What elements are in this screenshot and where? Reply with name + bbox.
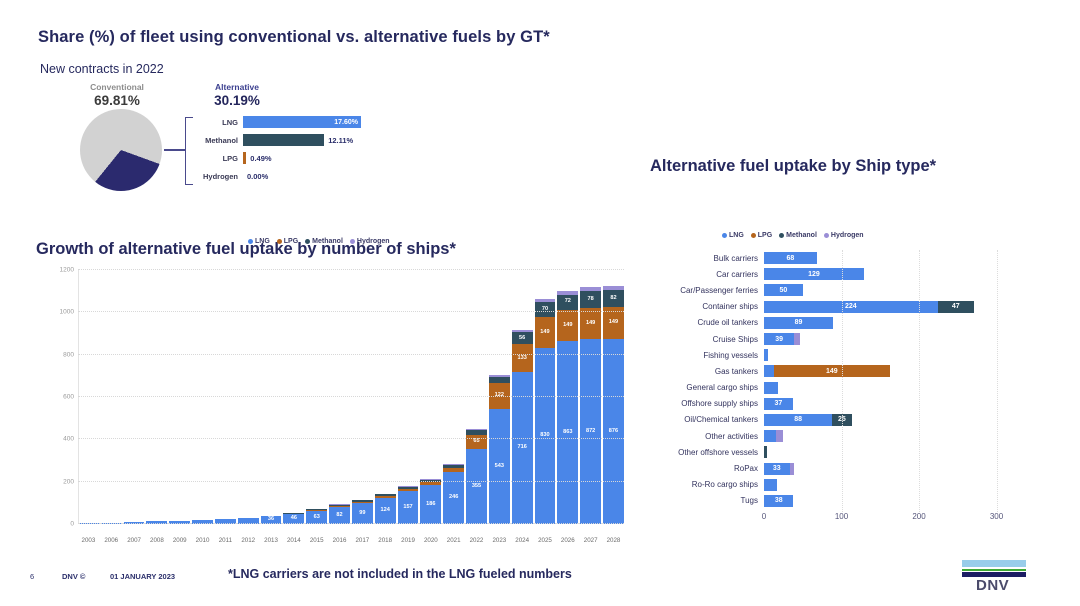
ship-type-bar-track: 22447 [764, 301, 1020, 313]
growth-bar-segment: 65 [466, 435, 487, 449]
growth-x-tick-label: 2007 [124, 537, 145, 544]
ship-type-bar-segment: 33 [764, 463, 790, 475]
growth-bar-value-label: 246 [449, 495, 458, 501]
ship-type-label: Crude oil tankers [650, 318, 764, 327]
growth-bar-value-label: 863 [563, 430, 572, 436]
ship-type-row[interactable]: Container ships22447 [650, 299, 1020, 315]
alternative-label-text: Alternative [215, 82, 259, 92]
growth-bar-segment: 186 [420, 485, 441, 524]
growth-chart-legend: LNGLPGMethanolHydrogen [248, 238, 390, 245]
growth-bar-column[interactable]: 65355 [466, 270, 487, 524]
fuel-breakdown-row: LPG0.49% [192, 150, 367, 166]
fuel-breakdown-bar [243, 152, 246, 164]
ship-type-bar-segment: 47 [938, 301, 974, 313]
dnv-logo: DNV [962, 560, 1042, 594]
ship-type-row[interactable]: General cargo ships [650, 380, 1020, 396]
logo-band-green [962, 569, 1026, 571]
ship-type-label: Fishing vessels [650, 351, 764, 360]
y-axis-tick-label: 0 [70, 521, 74, 528]
growth-bar-value-label: 149 [563, 323, 572, 329]
ship-type-bar-segment [764, 430, 776, 442]
ship-type-bar-segment: 129 [764, 268, 864, 280]
growth-bar-column[interactable]: 63 [306, 270, 327, 524]
ship-gridline [919, 250, 920, 512]
ship-x-tick-label: 200 [912, 512, 925, 521]
growth-x-tick-label: 2003 [78, 537, 99, 544]
legend-label: Methanol [786, 232, 817, 239]
growth-bar-segment: 56 [512, 332, 533, 344]
fuel-breakdown-name: Hydrogen [192, 172, 243, 181]
growth-x-tick-label: 2022 [466, 537, 487, 544]
ship-gridline [842, 250, 843, 512]
growth-bar-segment: 872 [580, 339, 601, 524]
growth-bar-column[interactable] [101, 270, 122, 524]
growth-chart-title: Growth of alternative fuel uptake by num… [36, 240, 456, 259]
growth-bar-column[interactable] [146, 270, 167, 524]
growth-bar-value-label: 99 [359, 511, 365, 517]
footer-company: DNV © [62, 572, 85, 581]
ship-type-x-axis: 0100200300 [764, 512, 1020, 528]
ship-type-label: General cargo ships [650, 383, 764, 392]
growth-bar-column[interactable]: 122543 [489, 270, 510, 524]
growth-bars: 3646638299124157186246653551225435613371… [78, 270, 624, 524]
growth-bar-value-label: 46 [291, 516, 297, 522]
growth-bar-value-label: 82 [336, 513, 342, 519]
ship-type-value-label: 68 [764, 255, 817, 262]
growth-bar-column[interactable]: 78149872 [580, 270, 601, 524]
growth-x-labels: 2003200620072008200920102011201220132014… [78, 537, 624, 544]
growth-bar-column[interactable] [78, 270, 99, 524]
growth-x-tick-label: 2011 [215, 537, 236, 544]
footnote: *LNG carriers are not included in the LN… [228, 567, 572, 581]
growth-x-tick-label: 2017 [352, 537, 373, 544]
growth-bar-segment: 70 [535, 302, 556, 317]
ship-type-bar-track [764, 479, 1020, 491]
fuel-breakdown-name: LPG [192, 154, 243, 163]
ship-type-row[interactable]: Crude oil tankers89 [650, 315, 1020, 331]
fuel-breakdown-name: LNG [192, 118, 243, 127]
legend-dot-icon [248, 239, 253, 244]
ship-type-label: Tugs [650, 496, 764, 505]
ship-type-bar-segment [764, 382, 778, 394]
ship-type-bar-track: 50 [764, 284, 1020, 296]
legend-item[interactable]: Hydrogen [824, 232, 864, 239]
growth-bar-value-label: 82 [610, 296, 616, 302]
alternative-label: Alternative 30.19% [182, 82, 292, 108]
fuel-breakdown-bar [243, 134, 324, 146]
growth-x-tick-label: 2012 [238, 537, 259, 544]
legend-item[interactable]: Methanol [779, 232, 817, 239]
growth-x-tick-label: 2015 [306, 537, 327, 544]
ship-type-value-label: 47 [938, 303, 974, 310]
legend-label: LPG [758, 232, 772, 239]
legend-label: LNG [255, 238, 270, 245]
ship-type-bar-segment [794, 333, 800, 345]
legend-item[interactable]: LPG [277, 238, 298, 245]
ship-type-label: Other offshore vessels [650, 448, 764, 457]
growth-x-tick-label: 2018 [375, 537, 396, 544]
ship-type-label: RoPax [650, 464, 764, 473]
logo-band-light [962, 560, 1026, 567]
growth-bar-column[interactable]: 82149876 [603, 270, 624, 524]
growth-x-tick-label: 2016 [329, 537, 350, 544]
growth-x-tick-label: 2008 [146, 537, 167, 544]
growth-bar-segment: 124 [375, 498, 396, 524]
gridline: 1000 [78, 311, 624, 312]
fuel-breakdown-value: 12.11% [328, 136, 353, 145]
ship-type-value-label: 149 [774, 368, 889, 375]
growth-bar-column[interactable]: 36 [261, 270, 282, 524]
growth-x-tick-label: 2020 [420, 537, 441, 544]
pie-connector-line [164, 149, 186, 151]
gridline: 800 [78, 354, 624, 355]
growth-plot-area: 3646638299124157186246653551225435613371… [78, 270, 624, 524]
growth-bar-value-label: 186 [426, 502, 435, 508]
ship-type-bar-track: 38 [764, 495, 1020, 507]
legend-item[interactable]: LNG [248, 238, 270, 245]
ship-type-bar-track: 37 [764, 398, 1020, 410]
ship-type-bar-track [764, 446, 1020, 458]
alternative-fuel-breakdown: LNG17.60%Methanol12.11%LPG0.49%Hydrogen0… [192, 114, 367, 186]
ship-type-bar-segment [764, 365, 774, 377]
ship-type-value-label: 224 [764, 303, 938, 310]
growth-x-tick-label: 2009 [169, 537, 190, 544]
ship-type-rows: Bulk carriers68Car carriers129Car/Passen… [650, 250, 1020, 509]
growth-bar-column[interactable]: 82 [329, 270, 350, 524]
legend-item[interactable]: LPG [751, 232, 772, 239]
growth-bar-segment: 876 [603, 339, 624, 524]
ship-type-bar-track: 149 [764, 365, 1020, 377]
growth-x-tick-label: 2014 [283, 537, 304, 544]
growth-bar-value-label: 149 [540, 330, 549, 336]
ship-type-row[interactable]: Bulk carriers68 [650, 250, 1020, 266]
growth-bar-segment: 78 [580, 291, 601, 308]
ship-type-value-label: 129 [764, 271, 864, 278]
growth-bar-column[interactable]: 72149863 [557, 270, 578, 524]
ship-type-bar-track: 129 [764, 268, 1020, 280]
pie-chart [80, 109, 162, 191]
growth-bar-segment: 63 [306, 511, 327, 524]
growth-bar-value-label: 157 [403, 505, 412, 511]
growth-bar-column[interactable]: 46 [283, 270, 304, 524]
growth-bar-value-label: 63 [314, 515, 320, 521]
ship-type-bar-segment: 149 [774, 365, 889, 377]
y-axis-tick-label: 600 [63, 394, 74, 401]
ship-type-row[interactable]: Other offshore vessels [650, 444, 1020, 460]
growth-bar-column[interactable]: 124 [375, 270, 396, 524]
growth-bar-column[interactable] [169, 270, 190, 524]
ship-type-chart-title: Alternative fuel uptake by Ship type* [650, 157, 936, 176]
ship-type-row[interactable]: RoPax33 [650, 460, 1020, 476]
growth-bar-segment: 99 [352, 503, 373, 524]
ship-type-label: Oil/Chemical tankers [650, 415, 764, 424]
ship-type-value-label: 39 [764, 336, 794, 343]
ship-type-value-label: 88 [764, 416, 832, 423]
ship-type-row[interactable]: Other activities [650, 428, 1020, 444]
fuel-breakdown-value: 0.49% [250, 154, 271, 163]
ship-type-bar-segment [776, 430, 782, 442]
growth-bar-value-label: 78 [588, 297, 594, 303]
ship-type-row[interactable]: Car/Passenger ferries50 [650, 282, 1020, 298]
growth-bar-column[interactable]: 186 [420, 270, 441, 524]
legend-dot-icon [751, 233, 756, 238]
ship-type-value-label: 50 [764, 287, 803, 294]
conventional-value: 69.81% [62, 93, 172, 108]
ship-type-bar-track: 33 [764, 463, 1020, 475]
ship-type-bar-track: 39 [764, 333, 1020, 345]
ship-type-row[interactable]: Oil/Chemical tankers8825 [650, 412, 1020, 428]
ship-type-bar-segment [764, 349, 768, 361]
ship-type-bar-segment: 39 [764, 333, 794, 345]
growth-bar-column[interactable] [192, 270, 213, 524]
footer-page-number: 6 [30, 572, 34, 581]
growth-bar-segment: 543 [489, 409, 510, 524]
growth-bar-value-label: 56 [519, 336, 525, 342]
growth-bar-value-label: 124 [381, 508, 390, 514]
ship-type-row[interactable]: Car carriers129 [650, 266, 1020, 282]
ship-type-bar-track [764, 349, 1020, 361]
ship-type-label: Car/Passenger ferries [650, 286, 764, 295]
y-axis-tick-label: 800 [63, 351, 74, 358]
growth-x-tick-label: 2024 [512, 537, 533, 544]
conventional-label: Conventional 69.81% [62, 82, 172, 108]
growth-bar-value-label: 876 [609, 429, 618, 435]
ship-type-label: Car carriers [650, 270, 764, 279]
logo-text: DNV [976, 577, 1009, 594]
ship-type-bar-track: 8825 [764, 414, 1020, 426]
growth-bar-value-label: 72 [565, 299, 571, 305]
ship-type-chart-legend: LNGLPGMethanolHydrogen [722, 232, 864, 239]
ship-type-bar-segment: 68 [764, 252, 817, 264]
gridline: 1200 [78, 269, 624, 270]
growth-x-tick-label: 2021 [443, 537, 464, 544]
ship-type-label: Offshore supply ships [650, 399, 764, 408]
ship-type-value-label: 38 [764, 497, 793, 504]
growth-chart: 3646638299124157186246653551225435613371… [30, 262, 630, 552]
ship-type-bar-segment: 88 [764, 414, 832, 426]
legend-item[interactable]: Hydrogen [350, 238, 390, 245]
growth-bar-column[interactable] [238, 270, 259, 524]
gridline: 600 [78, 396, 624, 397]
ship-type-bar-track: 89 [764, 317, 1020, 329]
growth-bar-value-label: 149 [609, 320, 618, 326]
growth-bar-segment: 355 [466, 449, 487, 524]
ship-type-row[interactable]: Gas tankers149 [650, 363, 1020, 379]
growth-x-tick-label: 2019 [398, 537, 419, 544]
fuel-breakdown-row: Methanol12.11% [192, 132, 367, 148]
ship-type-row[interactable]: Ro-Ro cargo ships [650, 477, 1020, 493]
growth-bar-column[interactable]: 70149830 [535, 270, 556, 524]
ship-type-bar-track [764, 382, 1020, 394]
ship-type-bar-segment: 89 [764, 317, 833, 329]
legend-dot-icon [722, 233, 727, 238]
ship-type-row[interactable]: Cruise Ships39 [650, 331, 1020, 347]
growth-x-tick-label: 2025 [535, 537, 556, 544]
growth-bar-column[interactable]: 246 [443, 270, 464, 524]
legend-dot-icon [779, 233, 784, 238]
ship-type-label: Cruise Ships [650, 335, 764, 344]
legend-label: Methanol [312, 238, 343, 245]
growth-bar-column[interactable] [124, 270, 145, 524]
slide: Share (%) of fleet using conventional vs… [0, 0, 1080, 606]
y-axis-tick-label: 200 [63, 478, 74, 485]
ship-gridline [997, 250, 998, 512]
y-axis-tick-label: 1000 [60, 309, 74, 316]
growth-bar-segment: 157 [398, 491, 419, 524]
y-axis-tick-label: 400 [63, 436, 74, 443]
legend-label: Hydrogen [831, 232, 864, 239]
ship-type-chart: Bulk carriers68Car carriers129Car/Passen… [650, 250, 1020, 550]
legend-dot-icon [824, 233, 829, 238]
growth-x-tick-label: 2023 [489, 537, 510, 544]
growth-bar-column[interactable] [215, 270, 236, 524]
ship-type-bar-track: 68 [764, 252, 1020, 264]
growth-x-tick-label: 2027 [580, 537, 601, 544]
growth-bar-segment: 149 [535, 317, 556, 349]
legend-label: LPG [284, 238, 298, 245]
fuel-breakdown-bar: 17.60% [243, 116, 361, 128]
growth-bar-segment: 82 [329, 507, 350, 524]
fuel-breakdown-row: LNG17.60% [192, 114, 367, 130]
growth-bar-value-label: 872 [586, 429, 595, 435]
ship-type-label: Other activities [650, 432, 764, 441]
ship-type-value-label: 89 [764, 319, 833, 326]
growth-bar-value-label: 716 [517, 445, 526, 451]
ship-x-tick-label: 300 [990, 512, 1003, 521]
ship-type-bar-segment: 37 [764, 398, 793, 410]
ship-type-row[interactable]: Tugs38 [650, 493, 1020, 509]
gridline: 400 [78, 438, 624, 439]
growth-x-tick-label: 2026 [557, 537, 578, 544]
legend-label: LNG [729, 232, 744, 239]
ship-x-tick-label: 0 [762, 512, 766, 521]
fuel-breakdown-value: 0.00% [247, 172, 268, 181]
ship-type-label: Ro-Ro cargo ships [650, 480, 764, 489]
ship-type-row[interactable]: Offshore supply ships37 [650, 396, 1020, 412]
growth-bar-segment: 82 [603, 290, 624, 307]
fuel-breakdown-value: 17.60% [334, 119, 358, 126]
conventional-label-text: Conventional [90, 82, 144, 92]
ship-type-bar-segment: 50 [764, 284, 803, 296]
growth-bar-column[interactable]: 56133716 [512, 270, 533, 524]
fuel-breakdown-row: Hydrogen0.00% [192, 168, 367, 184]
legend-item[interactable]: LNG [722, 232, 744, 239]
ship-type-row[interactable]: Fishing vessels [650, 347, 1020, 363]
growth-bar-value-label: 65 [473, 439, 479, 445]
footer-date: 01 JANUARY 2023 [110, 572, 175, 581]
growth-bar-segment: 830 [535, 348, 556, 524]
ship-type-bar-segment [764, 479, 777, 491]
alternative-value: 30.19% [182, 93, 292, 108]
growth-bar-segment: 72 [557, 295, 578, 310]
growth-x-tick-label: 2013 [261, 537, 282, 544]
ship-x-tick-label: 100 [835, 512, 848, 521]
legend-item[interactable]: Methanol [305, 238, 343, 245]
ship-type-label: Bulk carriers [650, 254, 764, 263]
ship-type-label: Gas tankers [650, 367, 764, 376]
page-title: Share (%) of fleet using conventional vs… [38, 28, 550, 47]
y-axis-tick-label: 1200 [60, 267, 74, 274]
gridline: 200 [78, 481, 624, 482]
legend-dot-icon [305, 239, 310, 244]
pie-subtitle: New contracts in 2022 [40, 62, 164, 76]
ship-type-value-label: 33 [764, 465, 790, 472]
growth-bar-segment: 149 [580, 308, 601, 340]
growth-x-tick-label: 2010 [192, 537, 213, 544]
growth-bar-column[interactable]: 157 [398, 270, 419, 524]
growth-bar-column[interactable]: 99 [352, 270, 373, 524]
growth-bar-value-label: 543 [495, 464, 504, 470]
growth-bar-segment: 133 [512, 344, 533, 372]
legend-label: Hydrogen [357, 238, 390, 245]
fuel-share-pie-block: Conventional 69.81% Alternative 30.19% L… [62, 82, 362, 207]
ship-type-label: Container ships [650, 302, 764, 311]
growth-bar-segment: 149 [557, 310, 578, 342]
ship-type-bar-segment: 224 [764, 301, 938, 313]
growth-x-tick-label: 2028 [603, 537, 624, 544]
growth-bar-segment: 863 [557, 341, 578, 524]
growth-x-tick-label: 2006 [101, 537, 122, 544]
ship-type-bar-segment: 38 [764, 495, 793, 507]
fuel-breakdown-name: Methanol [192, 136, 243, 145]
growth-bar-value-label: 133 [517, 356, 526, 362]
growth-bar-value-label: 355 [472, 484, 481, 490]
legend-dot-icon [350, 239, 355, 244]
ship-type-bar-track [764, 430, 1020, 442]
ship-type-bar-segment [790, 463, 795, 475]
ship-type-bar-segment [764, 446, 767, 458]
gridline: 0 [78, 523, 624, 524]
growth-bar-value-label: 149 [586, 321, 595, 327]
ship-type-value-label: 37 [764, 400, 793, 407]
legend-dot-icon [277, 239, 282, 244]
